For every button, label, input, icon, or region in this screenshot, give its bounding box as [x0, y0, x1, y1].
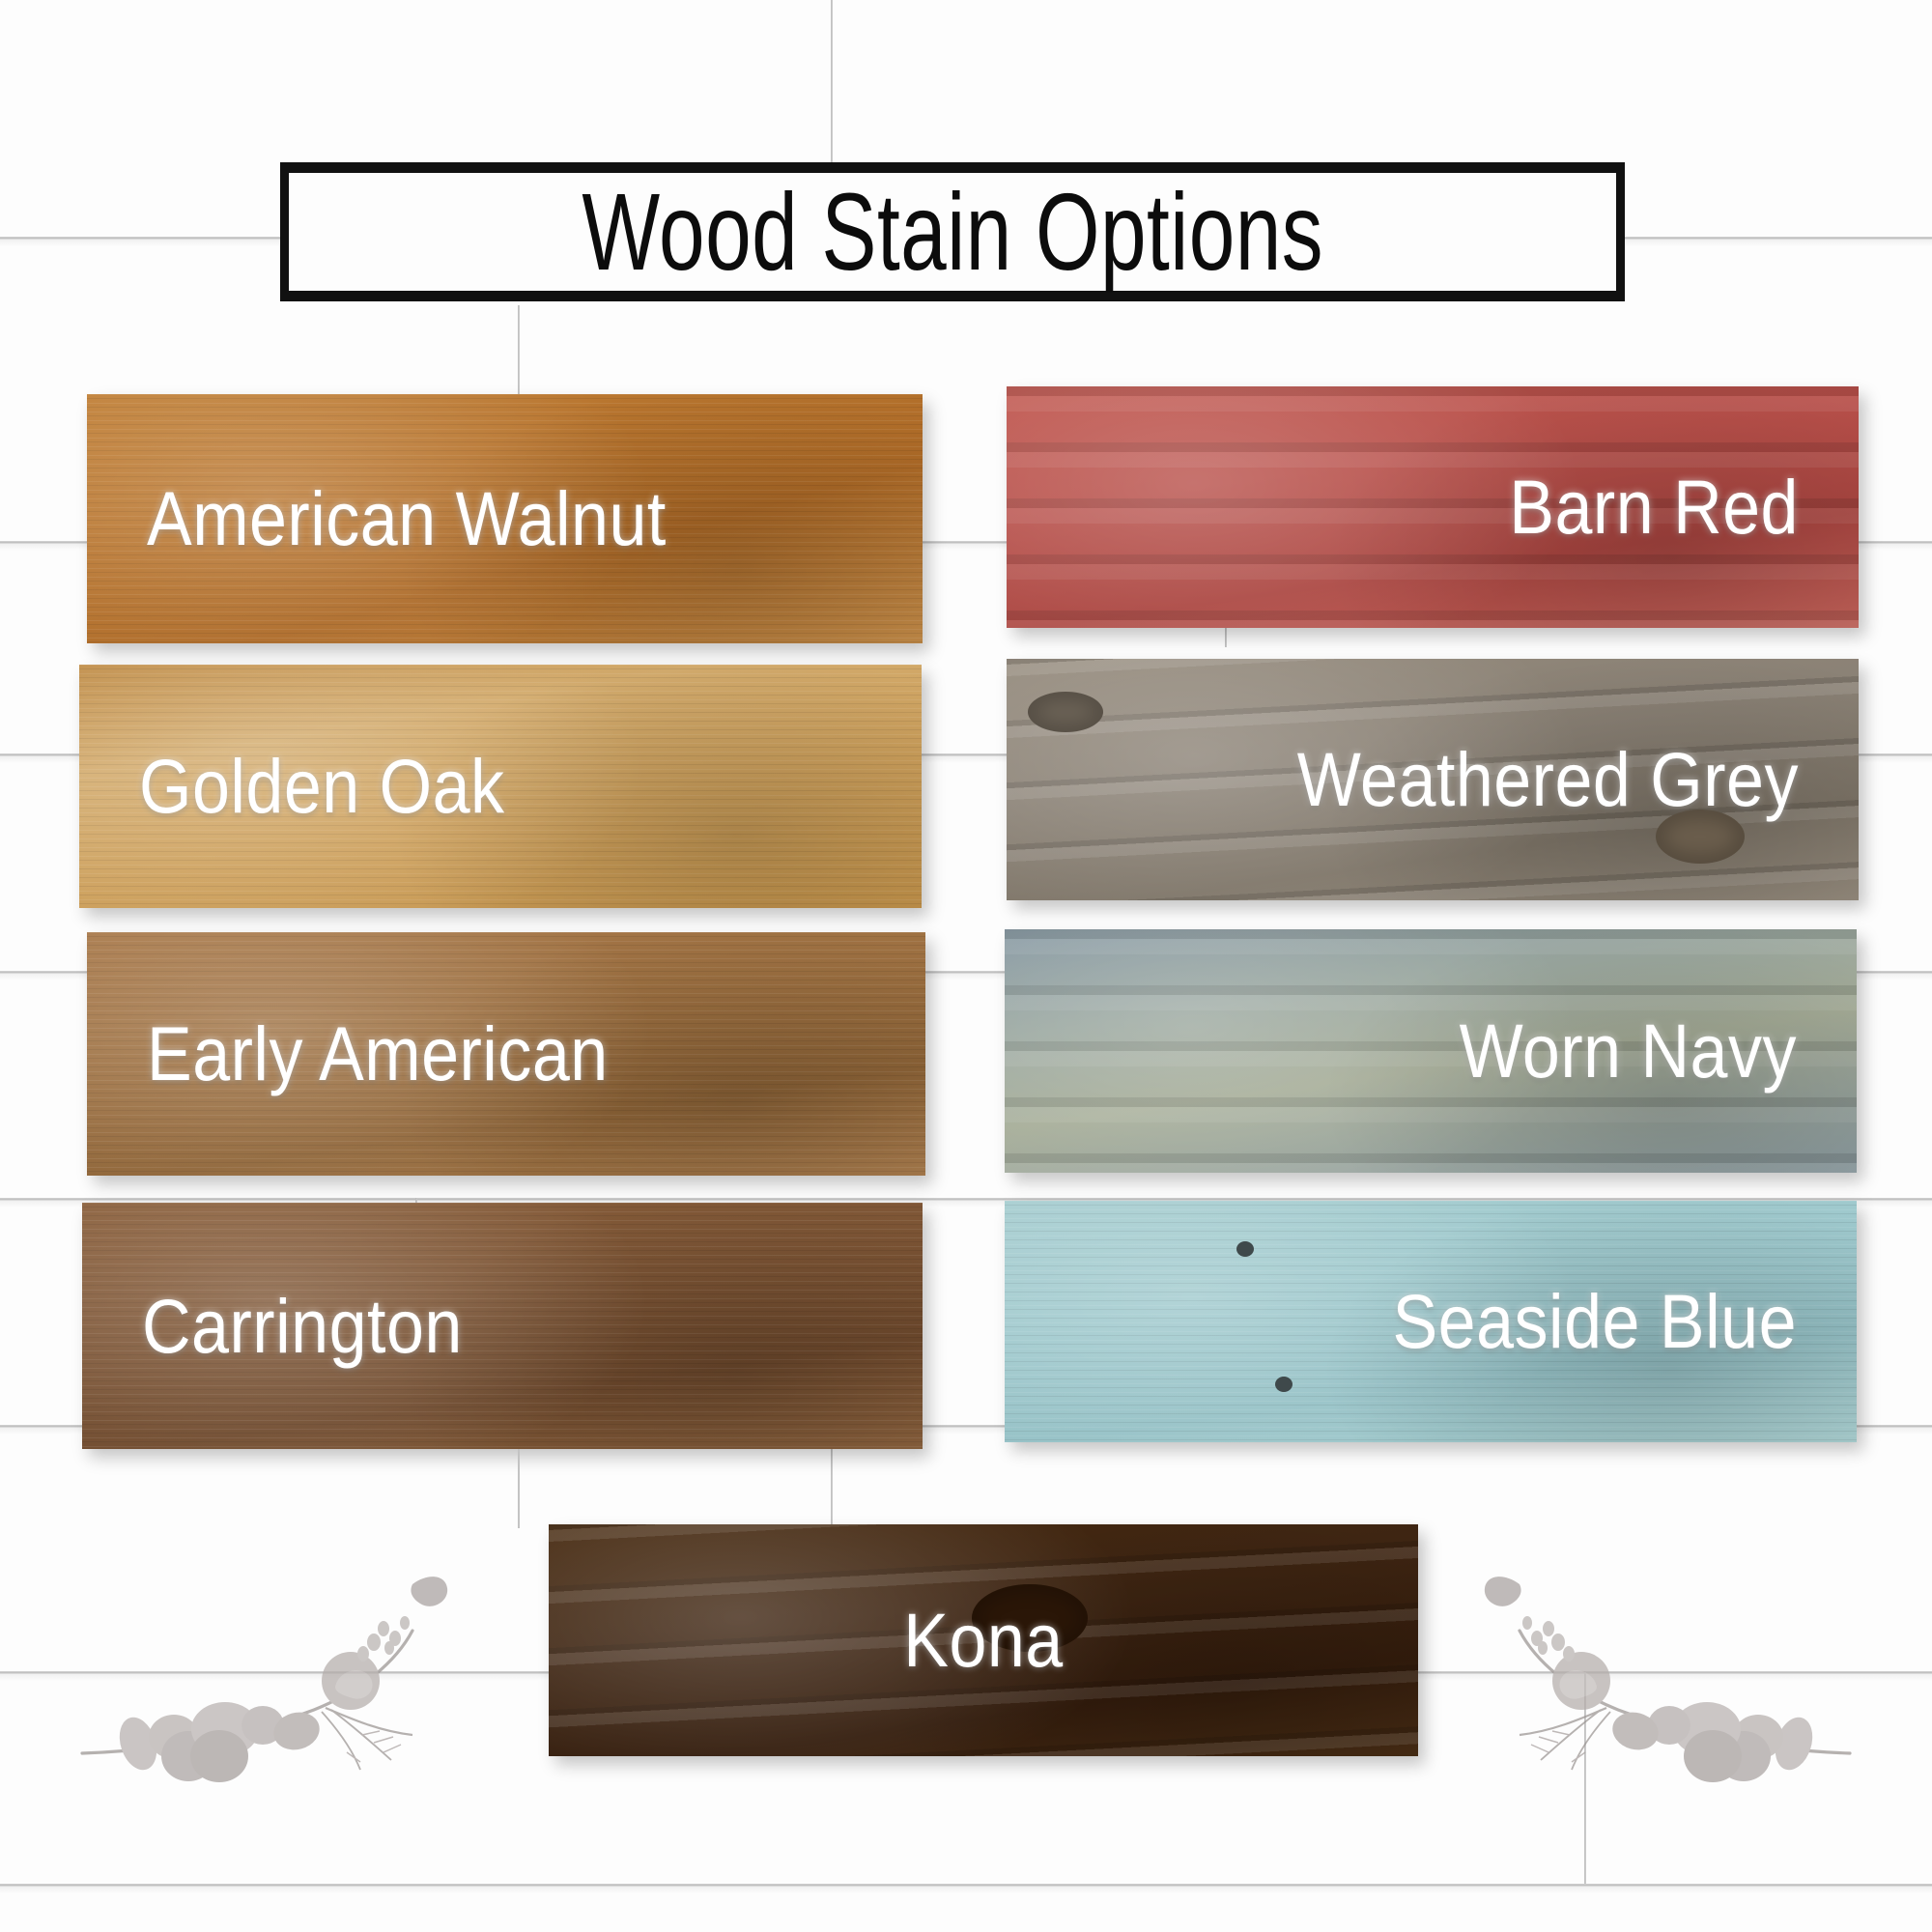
stain-name-label: Seaside Blue [1392, 1284, 1797, 1359]
stain-name-label: Weathered Grey [1297, 742, 1799, 817]
stain-name-label: Golden Oak [139, 749, 505, 824]
page-title: Wood Stain Options [582, 177, 1323, 286]
stain-swatch-worn-navy[interactable]: Worn Navy [1005, 929, 1857, 1173]
shiplap-seam-horizontal [0, 1884, 1932, 1887]
wood-knot-icon [1028, 692, 1103, 732]
stain-swatch-carrington[interactable]: Carrington [82, 1203, 923, 1449]
stain-swatch-barn-red[interactable]: Barn Red [1007, 386, 1859, 628]
eucalyptus-sprig-left [72, 1546, 478, 1860]
stain-swatch-kona[interactable]: Kona [549, 1524, 1418, 1756]
shiplap-seam-vertical [831, 0, 833, 166]
stain-swatch-american-walnut[interactable]: American Walnut [87, 394, 923, 643]
stain-swatch-golden-oak[interactable]: Golden Oak [79, 665, 922, 908]
page-title-box: Wood Stain Options [280, 162, 1625, 301]
stain-name-label: Barn Red [1509, 469, 1799, 545]
eucalyptus-sprig-right [1454, 1546, 1860, 1860]
wood-knot-icon [1275, 1377, 1293, 1392]
stain-swatch-seaside-blue[interactable]: Seaside Blue [1005, 1201, 1857, 1442]
stain-name-label: Early American [147, 1016, 609, 1092]
stain-name-label: Kona [903, 1603, 1063, 1678]
stain-swatch-early-american[interactable]: Early American [87, 932, 925, 1176]
stain-name-label: Carrington [142, 1288, 463, 1363]
stain-name-label: Worn Navy [1460, 1013, 1797, 1089]
stain-name-label: American Walnut [147, 481, 667, 556]
stain-swatch-weathered-grey[interactable]: Weathered Grey [1007, 659, 1859, 900]
shiplap-seam-vertical [518, 305, 520, 402]
wood-knot-icon [1236, 1241, 1254, 1257]
shiplap-seam-vertical [518, 1449, 520, 1528]
